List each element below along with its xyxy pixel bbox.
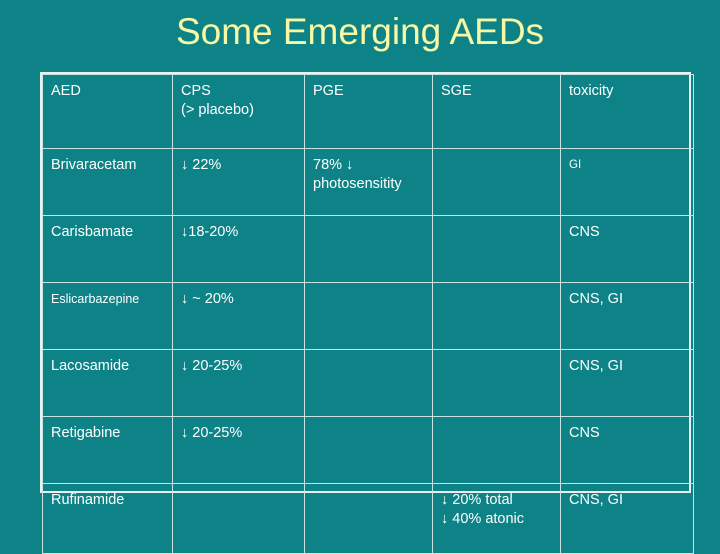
- pge-value-line2: photosensitity: [313, 175, 432, 194]
- cell-toxicity-value: CNS, GI: [561, 283, 694, 350]
- cell-pge-value: [305, 283, 433, 350]
- column-header-cps-sublabel: (> placebo): [181, 101, 304, 120]
- slide-canvas: Some Emerging AEDs AED CPS (> placebo): [0, 0, 720, 540]
- column-header-aed: AED: [43, 75, 173, 149]
- sge-value-line2: ↓ 40% atonic: [441, 510, 560, 529]
- toxicity-value-label: CNS: [569, 223, 693, 242]
- toxicity-value-label: CNS, GI: [569, 491, 693, 510]
- pge-value-label: [313, 290, 432, 291]
- cell-aed-name: Lacosamide: [43, 350, 173, 417]
- aed-table-container: AED CPS (> placebo) PGE SGE toxicity: [40, 72, 691, 493]
- sge-value-label: [441, 290, 560, 291]
- pge-value-label: [313, 491, 432, 492]
- pge-value-label: [313, 424, 432, 425]
- cell-sge-value: [433, 350, 561, 417]
- aed-name-label: Brivaracetam: [51, 156, 172, 175]
- cell-pge-value: 78% ↓ photosensitity: [305, 149, 433, 216]
- column-header-cps: CPS (> placebo): [173, 75, 305, 149]
- table-header-row: AED CPS (> placebo) PGE SGE toxicity: [43, 75, 694, 149]
- pge-value-label: [313, 357, 432, 358]
- table-row: Carisbamate ↓18-20% CNS: [43, 216, 694, 283]
- sge-value-label: [441, 424, 560, 425]
- table-row: Lacosamide ↓ 20-25% CNS, GI: [43, 350, 694, 417]
- table-row: Rufinamide ↓ 20% total ↓ 40% atonic CNS,…: [43, 484, 694, 554]
- aed-name-label: Eslicarbazepine: [51, 290, 172, 309]
- cps-value-label: ↓ ~ 20%: [181, 290, 304, 309]
- cell-pge-value: [305, 216, 433, 283]
- sge-value-label: [441, 156, 560, 157]
- pge-value-label: [313, 223, 432, 224]
- column-header-toxicity-label: toxicity: [569, 82, 693, 101]
- column-header-pge-label: PGE: [313, 82, 432, 101]
- column-header-sge: SGE: [433, 75, 561, 149]
- cell-pge-value: [305, 350, 433, 417]
- cell-cps-value: ↓ 22%: [173, 149, 305, 216]
- aed-table: AED CPS (> placebo) PGE SGE toxicity: [42, 74, 694, 554]
- column-header-sge-label: SGE: [441, 82, 560, 101]
- sge-value-line1: ↓ 20% total: [441, 491, 560, 510]
- column-header-toxicity: toxicity: [561, 75, 694, 149]
- cell-toxicity-value: GI: [561, 149, 694, 216]
- table-row: Eslicarbazepine ↓ ~ 20% CNS, GI: [43, 283, 694, 350]
- toxicity-value-label: CNS, GI: [569, 357, 693, 376]
- cell-aed-name: Retigabine: [43, 417, 173, 484]
- cell-toxicity-value: CNS, GI: [561, 484, 694, 554]
- sge-value-label: [441, 357, 560, 358]
- cell-sge-value: [433, 149, 561, 216]
- cell-pge-value: [305, 417, 433, 484]
- cell-cps-value: ↓ ~ 20%: [173, 283, 305, 350]
- cell-sge-value: [433, 216, 561, 283]
- aed-name-label: Carisbamate: [51, 223, 172, 242]
- table-row: Brivaracetam ↓ 22% 78% ↓ photosensitity …: [43, 149, 694, 216]
- cell-sge-value: ↓ 20% total ↓ 40% atonic: [433, 484, 561, 554]
- pge-value-line1: 78% ↓: [313, 156, 432, 175]
- column-header-cps-label: CPS: [181, 82, 304, 101]
- toxicity-value-label: CNS, GI: [569, 290, 693, 309]
- table-row: Retigabine ↓ 20-25% CNS: [43, 417, 694, 484]
- cell-sge-value: [433, 417, 561, 484]
- cell-cps-value: ↓18-20%: [173, 216, 305, 283]
- cell-toxicity-value: CNS: [561, 216, 694, 283]
- cell-cps-value: ↓ 20-25%: [173, 350, 305, 417]
- sge-value-label: [441, 223, 560, 224]
- aed-name-label: Lacosamide: [51, 357, 172, 376]
- cell-cps-value: [173, 484, 305, 554]
- cell-aed-name: Carisbamate: [43, 216, 173, 283]
- cps-value-label: ↓ 20-25%: [181, 424, 304, 443]
- cps-value-label: ↓ 22%: [181, 156, 304, 175]
- cell-toxicity-value: CNS: [561, 417, 694, 484]
- cps-value-label: ↓18-20%: [181, 223, 304, 242]
- aed-name-label: Retigabine: [51, 424, 172, 443]
- column-header-pge: PGE: [305, 75, 433, 149]
- cell-aed-name: Rufinamide: [43, 484, 173, 554]
- cell-aed-name: Eslicarbazepine: [43, 283, 173, 350]
- cell-aed-name: Brivaracetam: [43, 149, 173, 216]
- cell-pge-value: [305, 484, 433, 554]
- aed-name-label: Rufinamide: [51, 491, 172, 510]
- cps-value-label: [181, 491, 304, 492]
- cell-sge-value: [433, 283, 561, 350]
- cell-toxicity-value: CNS, GI: [561, 350, 694, 417]
- cps-value-label: ↓ 20-25%: [181, 357, 304, 376]
- toxicity-value-label: CNS: [569, 424, 693, 443]
- toxicity-value-label: GI: [569, 156, 693, 175]
- page-title: Some Emerging AEDs: [0, 10, 720, 54]
- cell-cps-value: ↓ 20-25%: [173, 417, 305, 484]
- column-header-aed-label: AED: [51, 82, 172, 101]
